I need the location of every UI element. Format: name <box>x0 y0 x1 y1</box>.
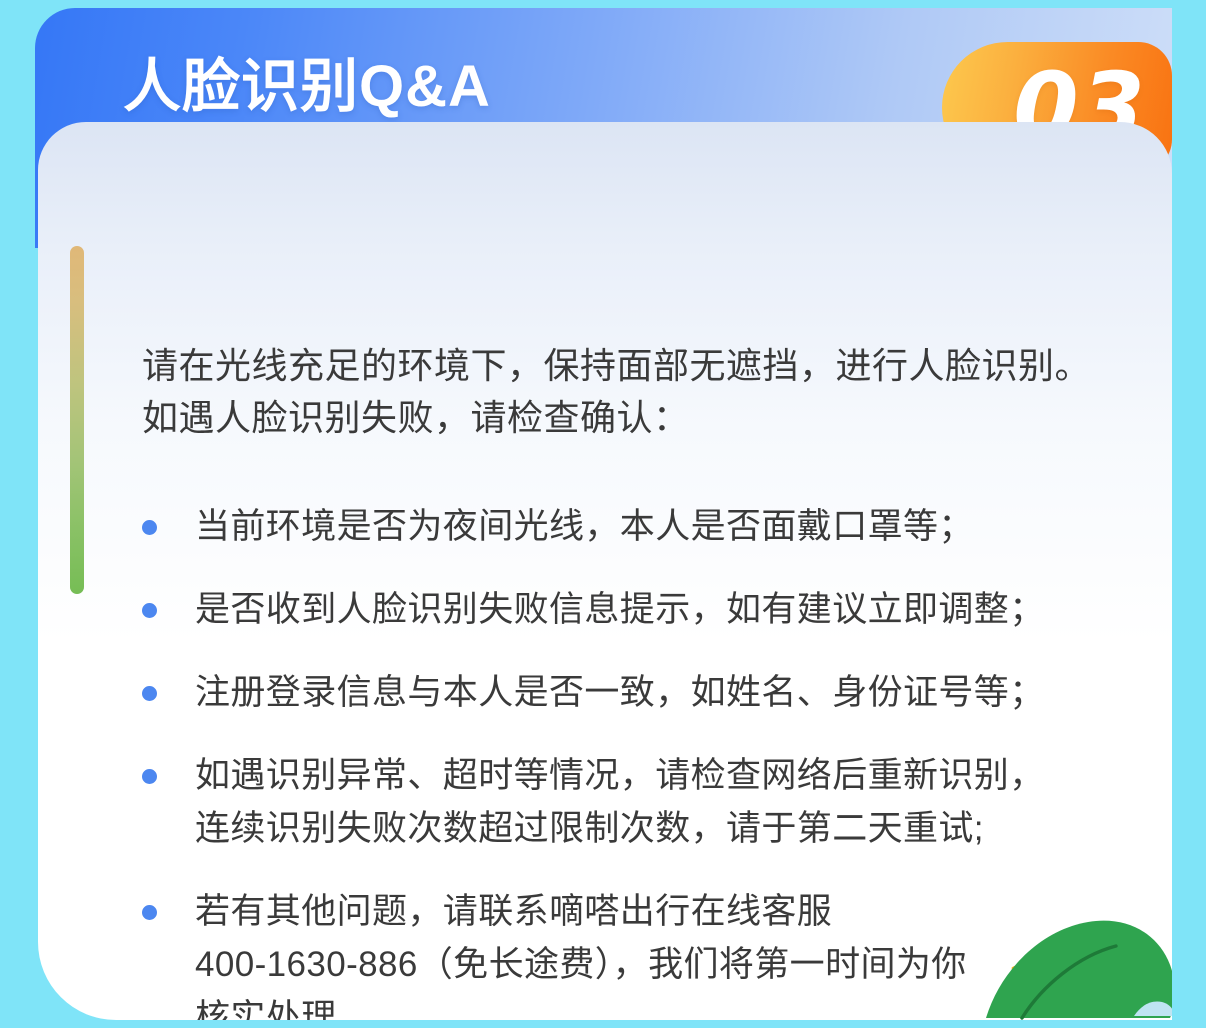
intro-line: 请在光线充足的环境下，保持面部无遮挡，进行人脸识别。 <box>142 340 1152 392</box>
checklist: 当前环境是否为夜间光线，本人是否面戴口罩等； 是否收到人脸识别失败信息提示，如有… <box>142 500 1172 1020</box>
list-item: 注册登录信息与本人是否一致，如姓名、身份证号等； <box>142 666 1172 719</box>
list-item-text: 注册登录信息与本人是否一致，如姓名、身份证号等； <box>195 666 1045 719</box>
bullet-dot-icon <box>142 769 157 784</box>
content-card: 请在光线充足的环境下，保持面部无遮挡，进行人脸识别。 如遇人脸识别失败，请检查确… <box>38 122 1172 1020</box>
qa-card-stack: 03 人脸识别Q&A 请在光线充足的环境下，保持面部无遮挡，进行人脸识别。 如遇… <box>35 8 1172 1020</box>
intro-paragraph: 请在光线充足的环境下，保持面部无遮挡，进行人脸识别。 如遇人脸识别失败，请检查确… <box>142 340 1152 444</box>
list-item-line: 是否收到人脸识别失败信息提示，如有建议立即调整； <box>195 583 1045 636</box>
color-accent-bar <box>70 246 84 594</box>
list-item: 当前环境是否为夜间光线，本人是否面戴口罩等； <box>142 500 1172 553</box>
list-item: 如遇识别异常、超时等情况，请检查网络后重新识别， 连续识别失败次数超过限制次数，… <box>142 749 1172 855</box>
bullet-dot-icon <box>142 905 157 920</box>
list-item-line: 核实处理。 <box>195 991 967 1020</box>
list-item: 若有其他问题，请联系嘀嗒出行在线客服 400-1630-886（免长途费），我们… <box>142 885 1172 1020</box>
list-item-line: 连续识别失败次数超过限制次数，请于第二天重试; <box>195 802 1045 855</box>
list-item-text: 如遇识别异常、超时等情况，请检查网络后重新识别， 连续识别失败次数超过限制次数，… <box>195 749 1045 855</box>
list-item-text: 若有其他问题，请联系嘀嗒出行在线客服 400-1630-886（免长途费），我们… <box>195 885 967 1020</box>
list-item-line: 若有其他问题，请联系嘀嗒出行在线客服 <box>195 885 967 938</box>
list-item: 是否收到人脸识别失败信息提示，如有建议立即调整； <box>142 583 1172 636</box>
page-title: 人脸识别Q&A <box>123 39 491 123</box>
list-item-line: 如遇识别异常、超时等情况，请检查网络后重新识别， <box>195 749 1045 802</box>
bullet-dot-icon <box>142 686 157 701</box>
list-item-line: 注册登录信息与本人是否一致，如姓名、身份证号等； <box>195 666 1045 719</box>
bullet-dot-icon <box>142 603 157 618</box>
support-phone-line: 400-1630-886（免长途费），我们将第一时间为你 <box>195 938 967 991</box>
intro-line: 如遇人脸识别失败，请检查确认： <box>142 392 1152 444</box>
list-item-text: 是否收到人脸识别失败信息提示，如有建议立即调整； <box>195 583 1045 636</box>
bullet-dot-icon <box>142 520 157 535</box>
list-item-line: 当前环境是否为夜间光线，本人是否面戴口罩等； <box>195 500 974 553</box>
list-item-text: 当前环境是否为夜间光线，本人是否面戴口罩等； <box>195 500 974 553</box>
